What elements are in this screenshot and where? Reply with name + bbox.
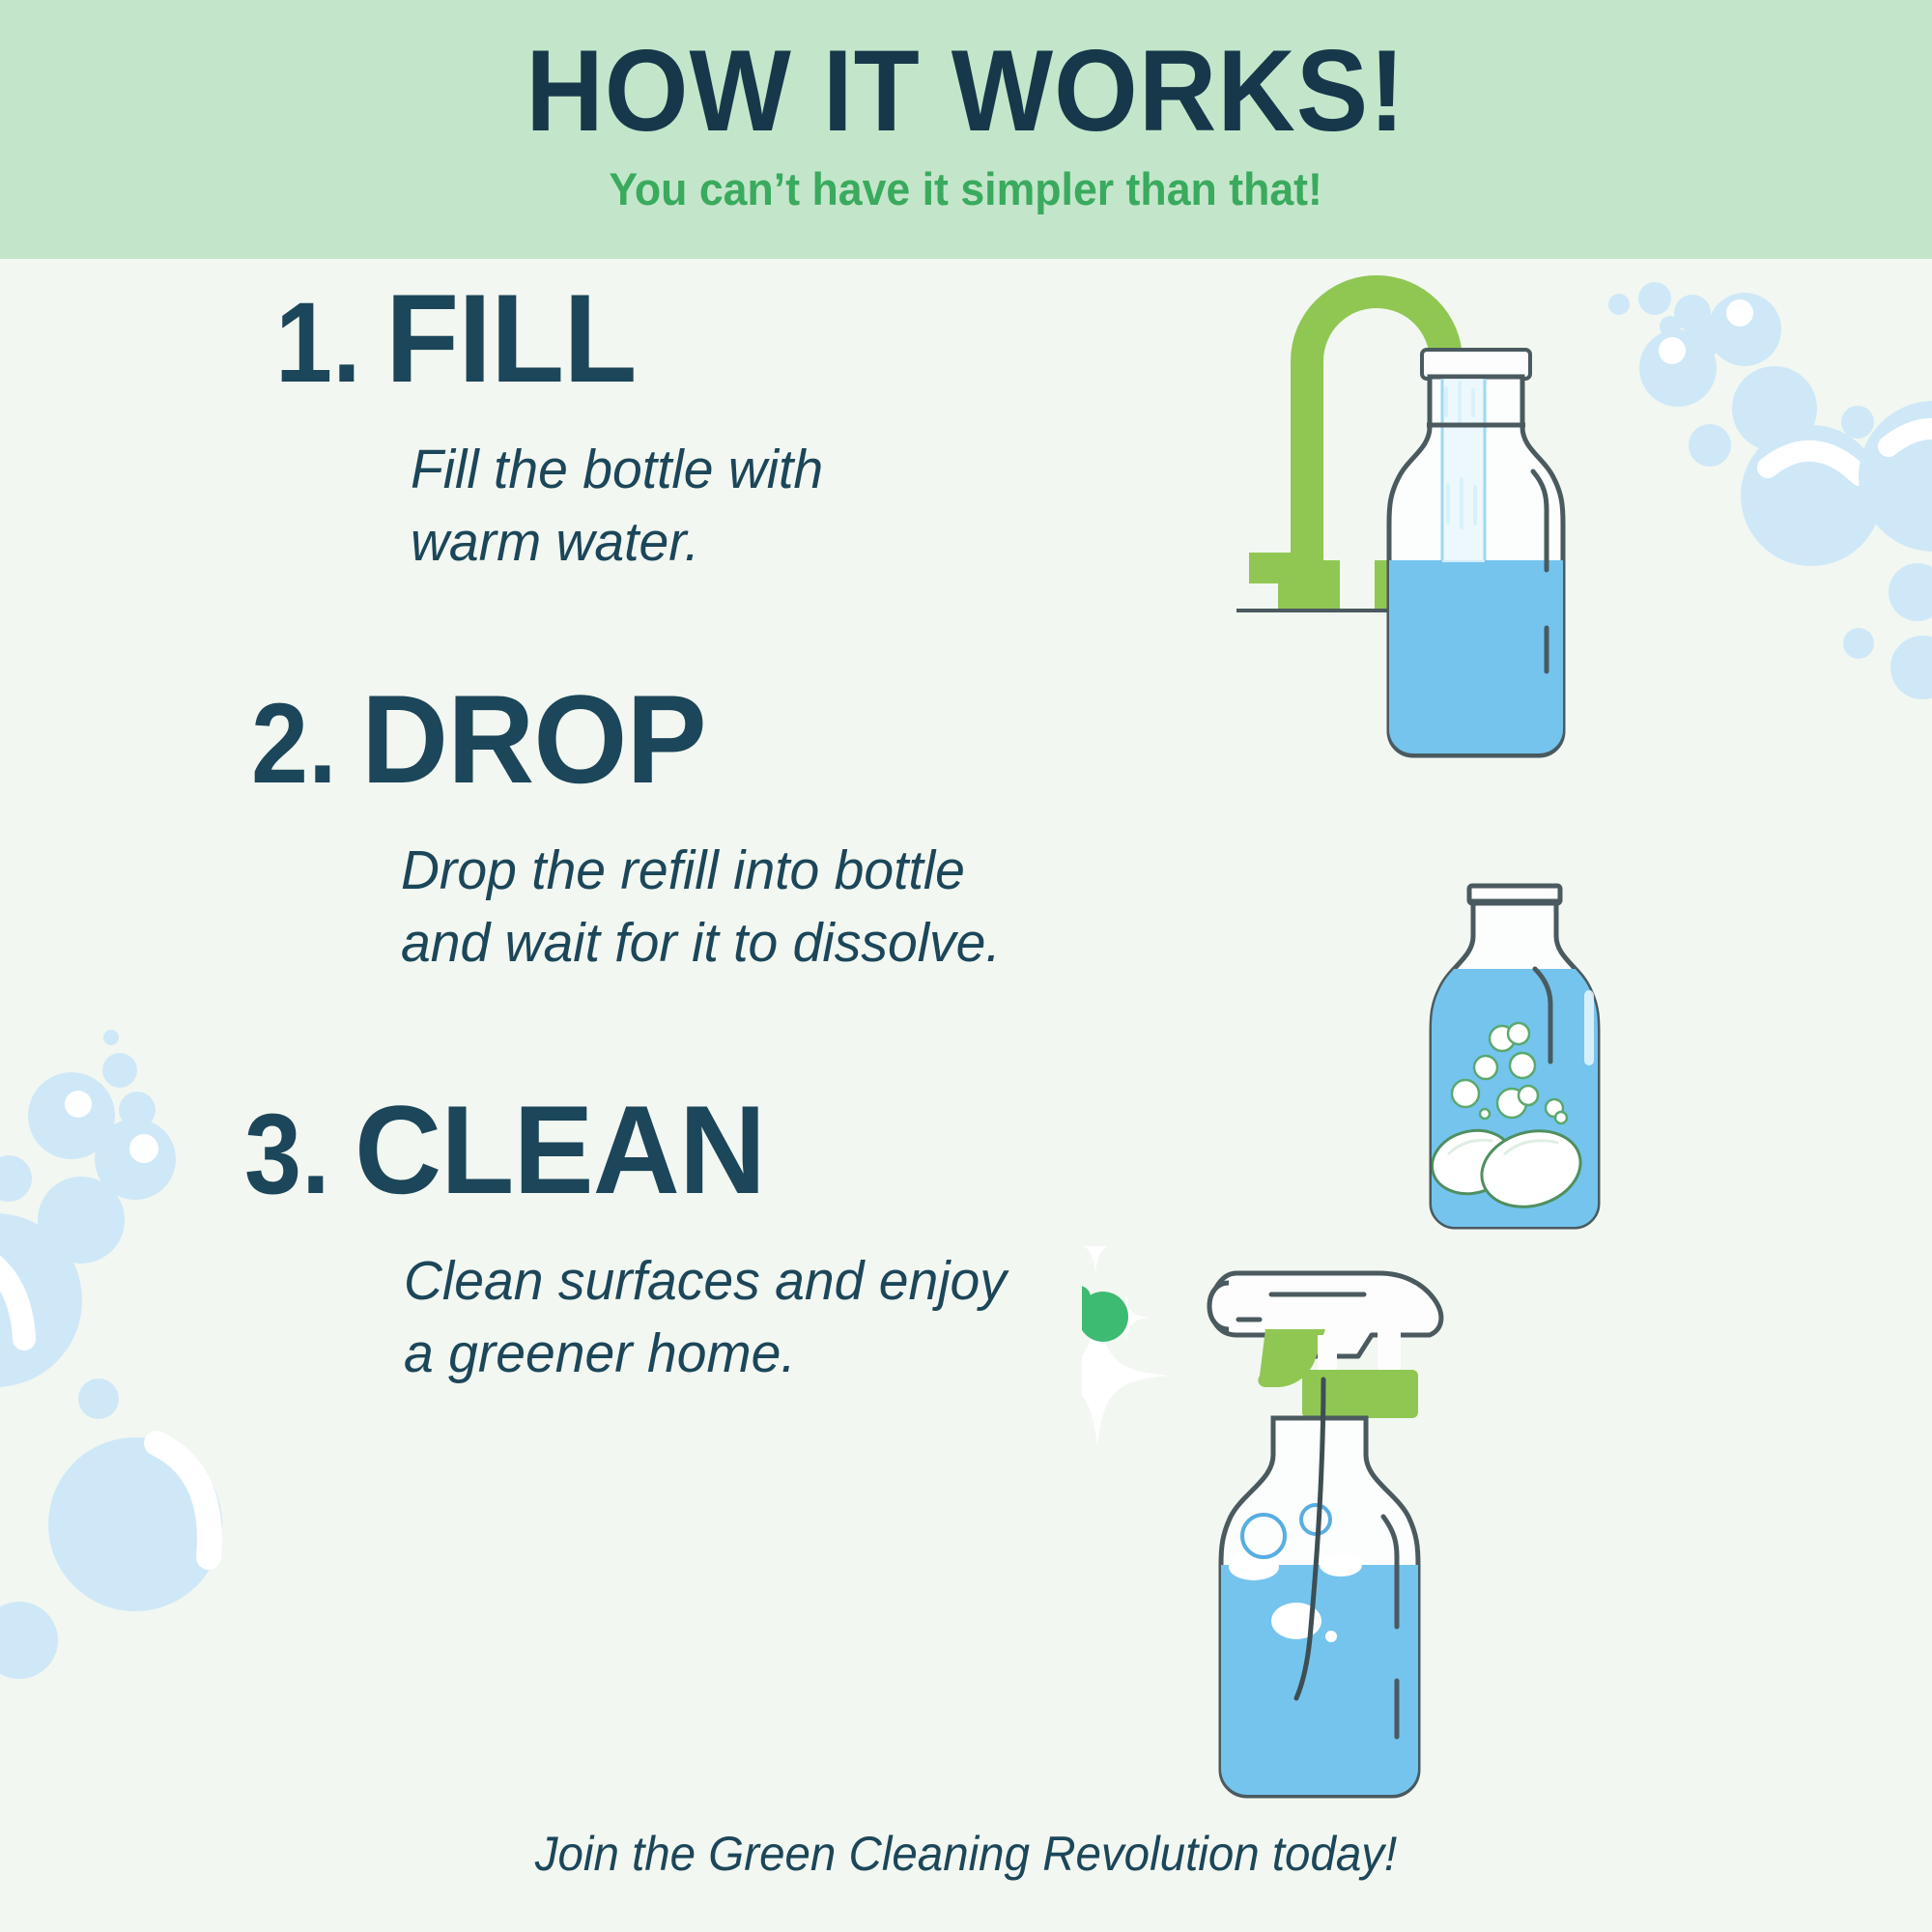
header-band: HOW IT WORKS! You can’t have it simpler … xyxy=(0,0,1932,259)
step-1: 1. FILL Fill the bottle with warm water. xyxy=(275,266,836,579)
step-2-word: DROP xyxy=(361,667,706,811)
infographic-poster: HOW IT WORKS! You can’t have it simpler … xyxy=(0,0,1932,1932)
step-3-description: Clean surfaces and enjoy a greener home. xyxy=(404,1245,1007,1390)
step-1-heading: 1. FILL xyxy=(275,266,836,411)
step-1-description: Fill the bottle with warm water. xyxy=(411,434,823,579)
faucet-filling-bottle-icon xyxy=(1232,270,1657,763)
step-3: 3. CLEAN Clean surfaces and enjoy a gree… xyxy=(244,1077,1025,1390)
bottle-with-dissolving-tablets-icon xyxy=(1377,855,1657,1241)
page-title: HOW IT WORKS! xyxy=(526,33,1406,149)
sparkle-icons xyxy=(1082,1246,1171,1464)
step-3-number: 3. xyxy=(244,1089,330,1220)
step-3-heading: 3. CLEAN xyxy=(244,1077,1025,1222)
step-1-number: 1. xyxy=(275,277,361,409)
step-2-heading: 2. DROP xyxy=(251,667,1019,811)
step-3-word: CLEAN xyxy=(355,1077,765,1222)
page-subtitle: You can’t have it simpler than that! xyxy=(610,166,1322,212)
step-2-description: Drop the refill into bottle and wait for… xyxy=(401,835,1001,980)
spray-bottle-with-sparkles-icon xyxy=(1082,1246,1662,1845)
step-2-number: 2. xyxy=(251,678,337,810)
step-1-word: FILL xyxy=(385,266,637,411)
step-2: 2. DROP Drop the refill into bottle and … xyxy=(251,667,1019,980)
footer-cta: Join the Green Cleaning Revolution today… xyxy=(48,1826,1884,1882)
spray-droplets xyxy=(1082,1262,1128,1342)
